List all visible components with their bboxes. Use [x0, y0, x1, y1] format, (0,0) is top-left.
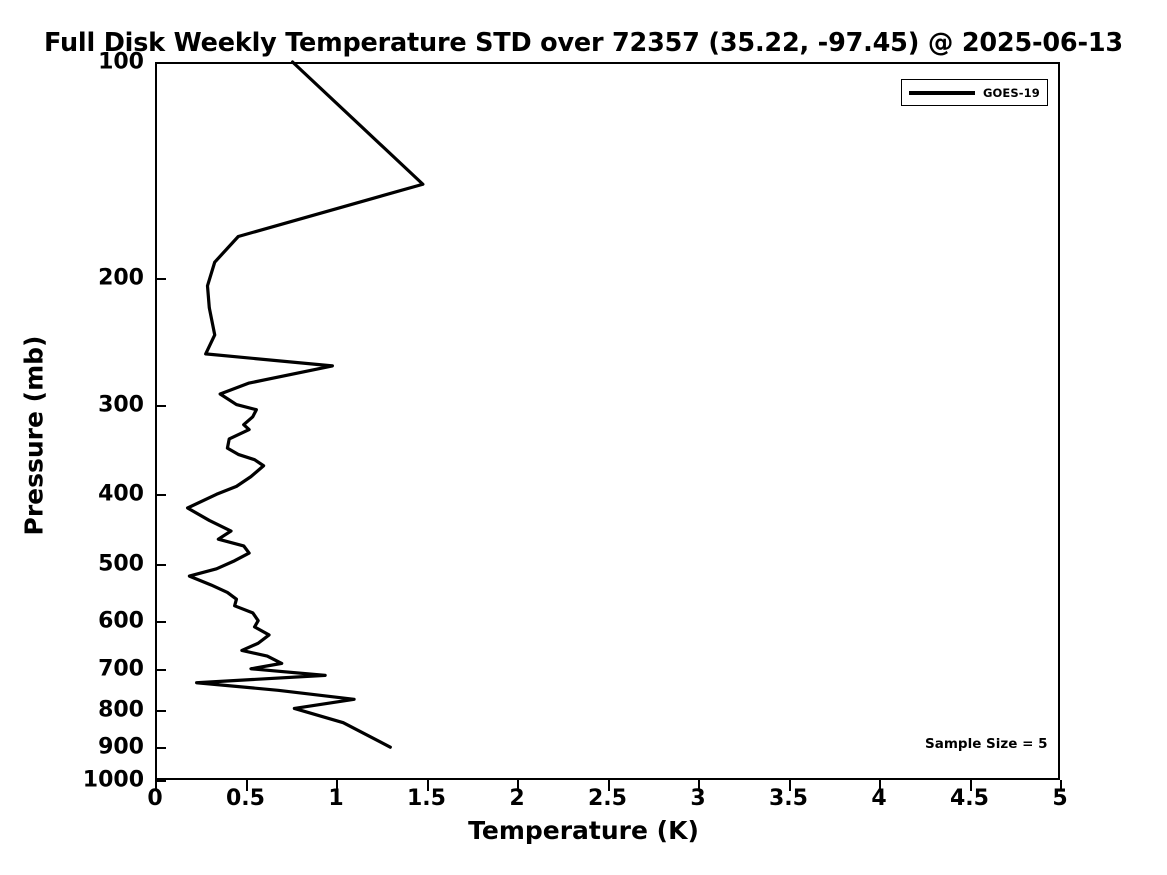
- y-tick-900: [155, 747, 166, 749]
- y-tick-800: [155, 710, 166, 712]
- y-tick-label-600: 600: [24, 608, 144, 633]
- x-axis-title: Temperature (K): [0, 816, 1167, 845]
- chart-root: Full Disk Weekly Temperature STD over 72…: [0, 0, 1167, 875]
- y-tick-label-800: 800: [24, 698, 144, 723]
- y-tick-100: [155, 62, 166, 64]
- page-title: Full Disk Weekly Temperature STD over 72…: [0, 28, 1167, 58]
- y-tick-300: [155, 405, 166, 407]
- sample-size-annotation: Sample Size = 5: [925, 736, 1048, 752]
- legend: GOES-19: [901, 79, 1048, 106]
- legend-label-goes-19: GOES-19: [983, 86, 1040, 100]
- y-tick-200: [155, 278, 166, 280]
- x-tick-label-5: 5: [1000, 786, 1120, 811]
- y-tick-400: [155, 494, 166, 496]
- y-tick-label-900: 900: [24, 735, 144, 760]
- y-tick-500: [155, 564, 166, 566]
- y-axis-title: Pressure (mb): [20, 286, 49, 586]
- y-tick-label-700: 700: [24, 656, 144, 681]
- y-tick-600: [155, 621, 166, 623]
- legend-swatch-goes-19: [909, 91, 975, 95]
- data-curve-layer: [155, 62, 1060, 780]
- series-line-goes-19: [188, 62, 423, 747]
- y-tick-label-100: 100: [24, 50, 144, 75]
- y-tick-700: [155, 669, 166, 671]
